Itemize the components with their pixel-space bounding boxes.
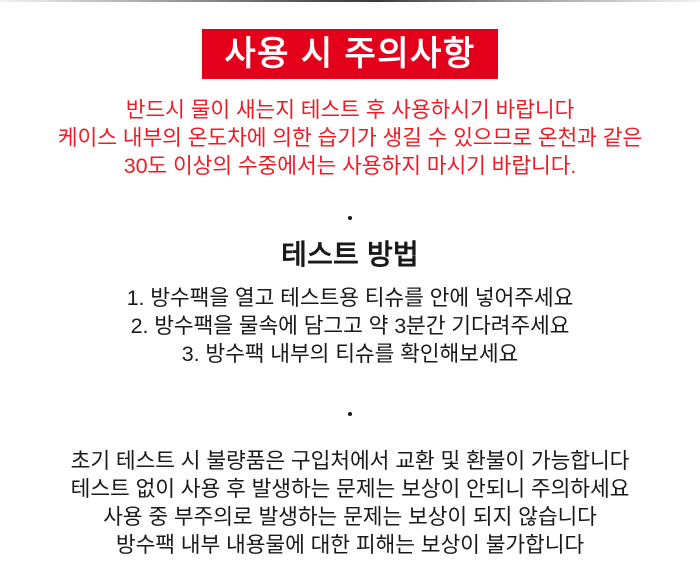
notice-graphic: 사용 시 주의사항 반드시 물이 새는지 테스트 후 사용하시기 바랍니다 케이… [0,0,700,583]
warning-paragraph: 반드시 물이 새는지 테스트 후 사용하시기 바랍니다 케이스 내부의 온도차에… [0,96,700,180]
policy-notes-paragraph: 초기 테스트 시 불량품은 구입처에서 교환 및 환불이 가능합니다 테스트 없… [0,447,700,559]
title-banner-container: 사용 시 주의사항 [0,29,700,79]
page-title: 사용 시 주의사항 [202,29,497,79]
dot-icon [348,412,352,416]
test-steps-list: 1. 방수팩을 열고 테스트용 티슈를 안에 넣어주세요 2. 방수팩을 물속에… [0,284,700,368]
divider-dot-first [0,209,700,217]
test-step-item: 2. 방수팩을 물속에 담그고 약 3분간 기다려주세요 [0,312,700,340]
warning-line: 케이스 내부의 온도차에 의한 습기가 생길 수 있으므로 온천과 같은 [0,124,700,152]
warning-line: 반드시 물이 새는지 테스트 후 사용하시기 바랍니다 [0,96,700,124]
test-method-heading-container: 테스트 방법 [0,238,700,272]
top-edge-hairline [0,0,700,2]
policy-note-line: 초기 테스트 시 불량품은 구입처에서 교환 및 환불이 가능합니다 [0,447,700,475]
divider-dot-second [0,405,700,413]
test-method-heading: 테스트 방법 [0,238,700,272]
warning-line: 30도 이상의 수중에서는 사용하지 마시기 바랍니다. [0,152,700,180]
policy-note-line: 사용 중 부주의로 발생하는 문제는 보상이 되지 않습니다 [0,503,700,531]
policy-note-line: 방수팩 내부 내용물에 대한 피해는 보상이 불가합니다 [0,531,700,559]
test-step-item: 3. 방수팩 내부의 티슈를 확인해보세요 [0,340,700,368]
dot-icon [348,216,352,220]
policy-note-line: 테스트 없이 사용 후 발생하는 문제는 보상이 안되니 주의하세요 [0,475,700,503]
test-step-item: 1. 방수팩을 열고 테스트용 티슈를 안에 넣어주세요 [0,284,700,312]
